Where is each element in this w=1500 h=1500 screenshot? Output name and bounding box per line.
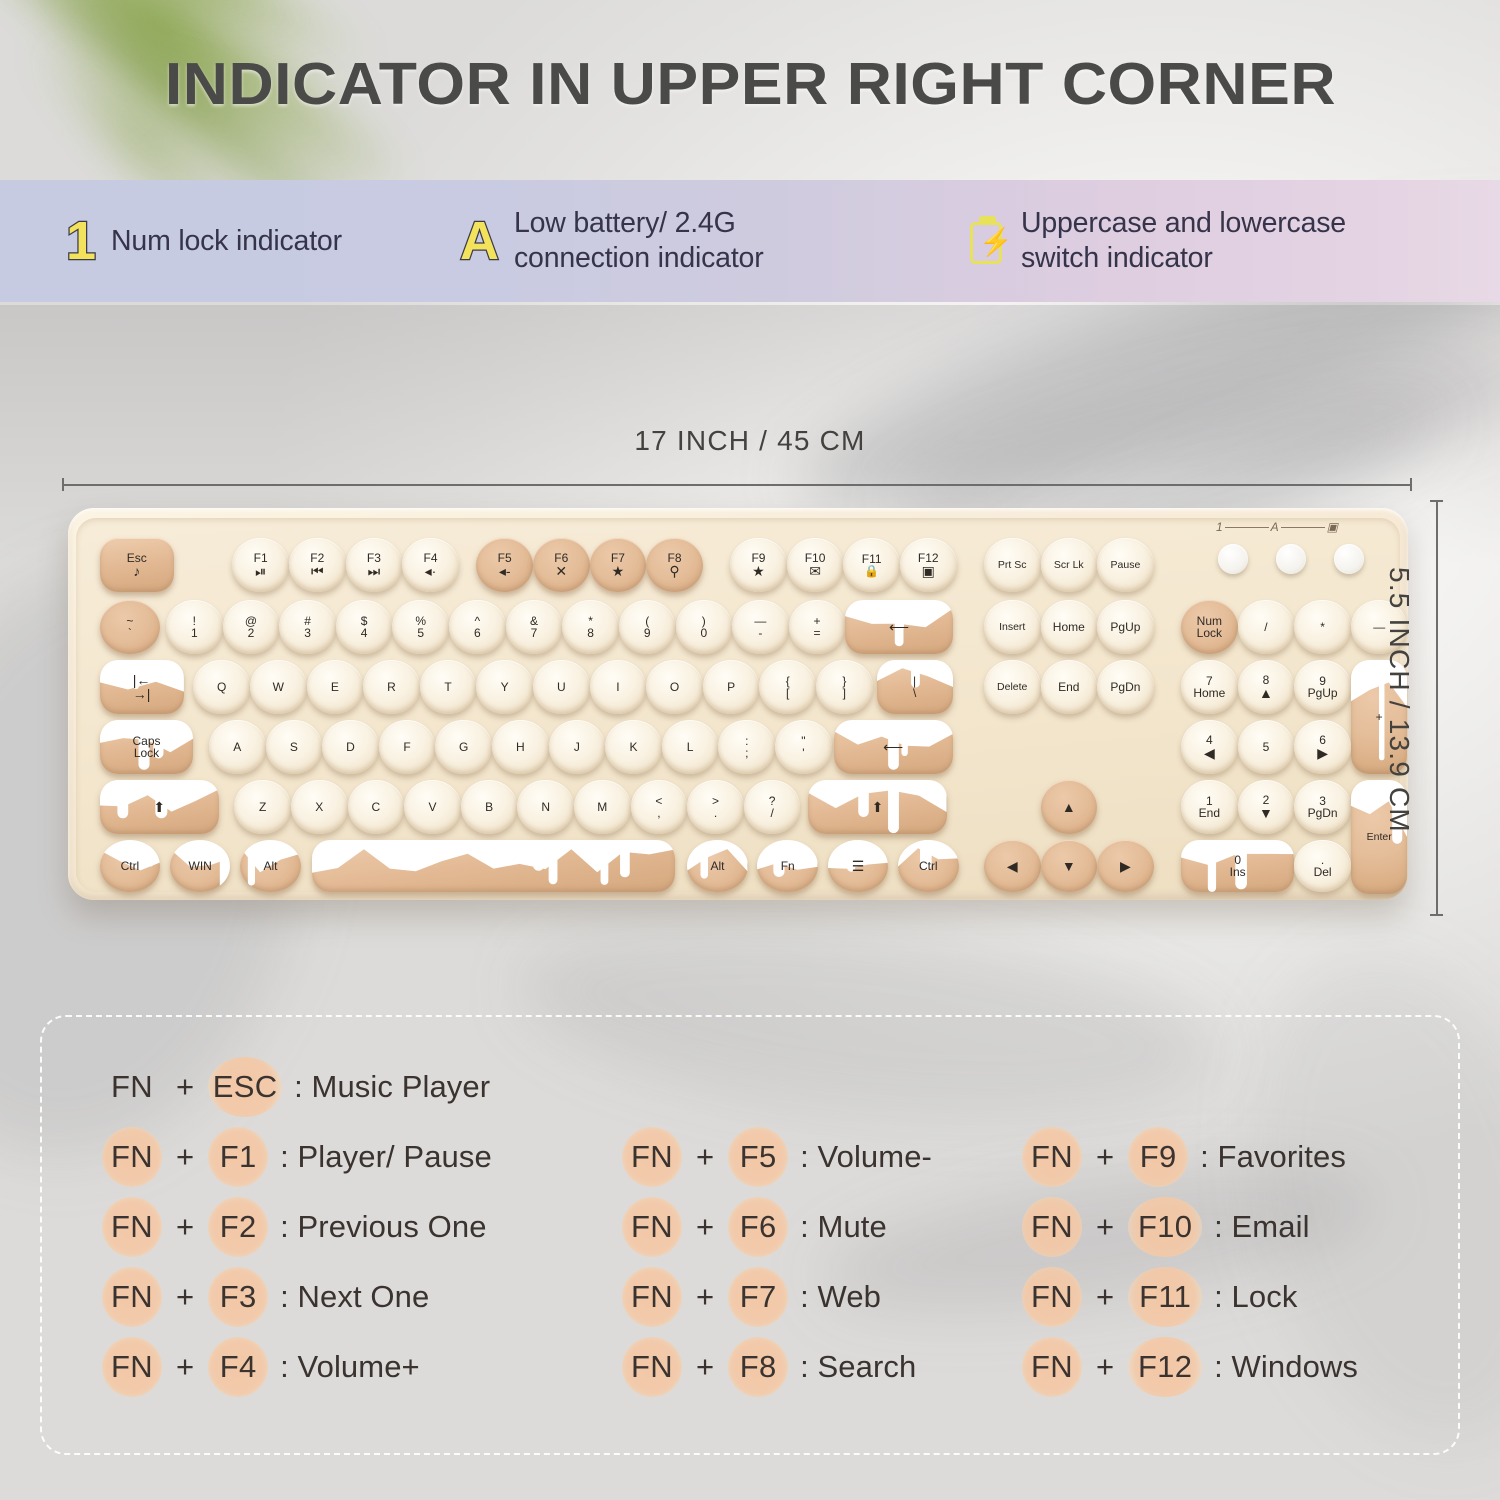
key-[interactable]: :;: [718, 720, 775, 774]
key-h[interactable]: H: [492, 720, 549, 774]
key-label: ◀: [1007, 859, 1018, 873]
key-label-primary: O: [670, 681, 679, 693]
key-label: Insert: [999, 622, 1025, 633]
key-y[interactable]: Y: [476, 660, 533, 714]
key-label-primary: Alt: [263, 860, 277, 872]
key-[interactable]: /: [1238, 600, 1295, 654]
key-label: Fn: [781, 860, 795, 872]
key-[interactable]: &7: [506, 600, 563, 654]
key-f1[interactable]: F1⏯: [232, 538, 289, 592]
key-label-primary: X: [315, 801, 323, 813]
key-[interactable]: ⟵: [834, 720, 953, 774]
fn-shortcut-description: : Volume-: [800, 1139, 932, 1175]
key-label: +: [1376, 711, 1383, 723]
key-0[interactable]: 0Ins: [1181, 840, 1294, 892]
key-label-primary: !: [191, 615, 198, 627]
key-x[interactable]: X: [291, 780, 348, 834]
key-n[interactable]: N: [517, 780, 574, 834]
dimension-height-line: [1430, 500, 1442, 916]
fn-shortcut-description: : Volume+: [280, 1349, 420, 1385]
key-[interactable]: $4: [336, 600, 393, 654]
fn-target-key-chip: F8: [726, 1337, 790, 1397]
fn-key-chip: FN: [100, 1267, 164, 1327]
fn-key-chip: FN: [100, 1197, 164, 1257]
key-[interactable]: <,: [631, 780, 688, 834]
key-t[interactable]: T: [420, 660, 477, 714]
key-label-primary: *: [1320, 621, 1325, 633]
melting-paint-decor: [877, 660, 953, 714]
key-label-primary: F3: [367, 552, 381, 564]
key-label-primary: 7: [1193, 675, 1225, 687]
key-label-primary: A: [233, 741, 241, 753]
dimension-height-label: 5.5 INCH / 13.9 CM: [1383, 567, 1415, 833]
key-scr-lk[interactable]: Scr Lk: [1041, 538, 1098, 592]
key-label-primary: Esc: [127, 552, 147, 564]
key-f10[interactable]: F10✉: [787, 538, 844, 592]
key-home[interactable]: Home: [1041, 600, 1098, 654]
key-label-primary: F4: [424, 552, 438, 564]
key-label-primary: C: [372, 801, 381, 813]
key-o[interactable]: O: [646, 660, 703, 714]
key-label-secondary: ⏭: [367, 564, 381, 578]
key-label-primary: ⬆: [153, 800, 165, 814]
key-esc[interactable]: Esc♪: [100, 538, 174, 592]
key-label: ?/: [769, 795, 776, 819]
fn-shortcut-description: : Web: [800, 1279, 881, 1315]
key-label-secondary: Lock: [1197, 627, 1222, 639]
key-1[interactable]: 1End: [1181, 780, 1238, 834]
key-label-primary: N: [541, 801, 550, 813]
key-label: Q: [217, 681, 226, 693]
key-[interactable]: {[: [759, 660, 816, 714]
key-label: F8⚲: [668, 552, 682, 579]
key-label: ⟵: [883, 740, 903, 754]
key-label-primary: 5: [1263, 741, 1270, 753]
key-label-primary: Enter: [1367, 832, 1392, 843]
caps-a-glyph: A: [460, 214, 499, 268]
fn-shortcut-description: : Email: [1214, 1209, 1309, 1245]
key-label: F6✕: [554, 552, 568, 579]
key-[interactable]: ⬆: [808, 780, 947, 834]
key-label: ☰: [852, 859, 865, 873]
key-label-secondary: 5: [415, 627, 426, 639]
key-[interactable]: ◀: [984, 840, 1041, 892]
key-label: O: [670, 681, 679, 693]
key-label-primary: %: [415, 615, 426, 627]
key-num[interactable]: NumLock: [1181, 600, 1238, 654]
dimension-line-endcap: [1430, 914, 1443, 916]
key-label-primary: ◀: [1007, 859, 1018, 873]
key-[interactable]: (9: [619, 600, 676, 654]
melting-paint-decor: [100, 840, 161, 892]
key-[interactable]: —-: [732, 600, 789, 654]
key-s[interactable]: S: [266, 720, 323, 774]
key-label-primary: Insert: [999, 622, 1025, 633]
key-label: F: [403, 741, 410, 753]
fn-target-key-chip: F12: [1126, 1337, 1204, 1397]
key-caps[interactable]: CapsLock: [100, 720, 194, 774]
fn-shortcut-row: FN+F2: Previous One: [100, 1197, 487, 1257]
key-label-secondary: ★: [751, 564, 765, 578]
key-label-secondary: ⟵: [883, 740, 903, 754]
key-label-secondary: Del: [1314, 866, 1332, 878]
key-[interactable]: >.: [687, 780, 744, 834]
key-label-secondary: 2: [245, 627, 257, 639]
key-label: #3: [304, 615, 311, 639]
key-label: Pause: [1111, 560, 1141, 571]
key-label: CapsLock: [132, 735, 160, 759]
key-label: G: [459, 741, 468, 753]
key-label-primary: B: [485, 801, 493, 813]
key-label-secondary: .: [712, 807, 719, 819]
fn-key-chip: FN: [1020, 1337, 1084, 1397]
fn-target-key-chip: F7: [726, 1267, 790, 1327]
melting-paint-decor: [100, 720, 194, 774]
key-[interactable]: .Del: [1294, 840, 1351, 892]
key-label-primary: :: [745, 735, 748, 747]
key-label-secondary: ▶: [1317, 746, 1328, 760]
key-label: Esc♪: [127, 552, 147, 579]
key-label-primary: S: [290, 741, 298, 753]
key-label-primary: .: [1314, 854, 1332, 866]
key-p[interactable]: P: [703, 660, 760, 714]
key-label-primary: #: [304, 615, 311, 627]
key-q[interactable]: Q: [193, 660, 250, 714]
key-3[interactable]: 3PgDn: [1294, 780, 1351, 834]
key-label-primary: Scr Lk: [1054, 560, 1084, 571]
indicator-label: Low battery/ 2.4Gconnection indicator: [514, 206, 764, 276]
key-f2[interactable]: F2⏮: [289, 538, 346, 592]
key-label: Z: [259, 801, 266, 813]
key-fn[interactable]: Fn: [757, 840, 818, 892]
key-f5[interactable]: F5◂-: [476, 538, 533, 592]
key-label-primary: Caps: [132, 735, 160, 747]
led-legend-line: [1225, 527, 1269, 528]
dimension-width-label: 17 INCH / 45 CM: [0, 425, 1500, 457]
key-5[interactable]: 5: [1238, 720, 1295, 774]
key-label-primary: Pause: [1111, 560, 1141, 571]
key-f9[interactable]: F9★: [730, 538, 787, 592]
dimension-line-endcap: [62, 478, 64, 491]
led-legend-glyph: ▣: [1327, 520, 1338, 534]
indicator-label: Uppercase and lowercaseswitch indicator: [1021, 206, 1346, 276]
key-ctrl[interactable]: Ctrl: [100, 840, 161, 892]
fn-shortcut-row: FN+F5: Volume-: [620, 1127, 932, 1187]
key-label-primary: ▲: [1062, 800, 1076, 814]
key-[interactable]: ▼: [1041, 840, 1098, 892]
key-label-primary: ▼: [1062, 859, 1076, 873]
key-[interactable]: ⟵: [845, 600, 952, 654]
key-label: >.: [712, 795, 719, 819]
key-label-primary: Y: [501, 681, 509, 693]
key-label-secondary: →|: [133, 687, 151, 701]
plus-sign: +: [696, 1139, 714, 1175]
key-label-primary: <: [655, 795, 662, 807]
key-label-primary: F1: [254, 552, 268, 564]
key-label: Scr Lk: [1054, 560, 1084, 571]
key-[interactable]: *: [1294, 600, 1351, 654]
key-f[interactable]: F: [379, 720, 436, 774]
key-label: 8▲: [1259, 674, 1273, 701]
key-v[interactable]: V: [404, 780, 461, 834]
key-pgdn[interactable]: PgDn: [1097, 660, 1154, 714]
key-b[interactable]: B: [461, 780, 518, 834]
fn-target-key-chip: F6: [726, 1197, 790, 1257]
melting-paint-decor: [845, 600, 952, 654]
key-label-secondary: ▼: [1259, 806, 1273, 820]
key-label-primary: +: [814, 615, 821, 627]
indicator-item: ALow battery/ 2.4Gconnection indicator: [460, 206, 970, 276]
key-label: |←→|: [133, 673, 151, 702]
key-label-secondary: ⏮: [310, 564, 324, 578]
key-label-secondary: 8: [587, 627, 594, 639]
key-label-primary: F6: [554, 552, 568, 564]
key-z[interactable]: Z: [234, 780, 291, 834]
key-[interactable]: }]: [816, 660, 873, 714]
key-[interactable]: ▶: [1097, 840, 1154, 892]
key-label: {[: [786, 675, 790, 699]
key-label: Home: [1053, 621, 1085, 633]
fn-shortcut-row: FN+F4: Volume+: [100, 1337, 420, 1397]
key-[interactable]: ^6: [449, 600, 506, 654]
fn-shortcut-description: : Lock: [1214, 1279, 1297, 1315]
indicator-label: Num lock indicator: [111, 224, 342, 259]
key-label-secondary: 🔒: [862, 565, 882, 577]
battery-bolt-icon: ⚡: [970, 216, 1006, 266]
fn-shortcut-description: : Mute: [800, 1209, 887, 1245]
key-label-primary: PgDn: [1110, 681, 1140, 693]
num-lock-glyph: 1: [66, 214, 96, 268]
key-label-primary: 6: [1317, 734, 1328, 746]
key-label: +=: [814, 615, 821, 639]
key-label: &7: [530, 615, 538, 639]
key-label-secondary: ✉: [805, 564, 826, 578]
key-alt[interactable]: Alt: [687, 840, 748, 892]
key-label-secondary: 6: [474, 627, 481, 639]
key-6[interactable]: 6▶: [1294, 720, 1351, 774]
plus-sign: +: [1096, 1349, 1114, 1385]
key-pgup[interactable]: PgUp: [1097, 600, 1154, 654]
key-[interactable]: +=: [789, 600, 846, 654]
key-label: J: [574, 741, 580, 753]
melting-paint-decor: [312, 840, 675, 892]
key-label: 1End: [1199, 795, 1220, 819]
key-f8[interactable]: F8⚲: [646, 538, 703, 592]
key-c[interactable]: C: [348, 780, 405, 834]
dimension-line-bar: [62, 484, 1412, 486]
key-label-secondary: Lock: [132, 747, 160, 759]
key-[interactable]: #3: [279, 600, 336, 654]
key-label: Ctrl: [121, 860, 140, 872]
key-label-primary: 0: [1230, 854, 1246, 866]
key-alt[interactable]: Alt: [240, 840, 301, 892]
key-[interactable]: *8: [562, 600, 619, 654]
key-label-secondary: [: [786, 687, 790, 699]
key-label: F7★: [611, 552, 625, 579]
key-[interactable]: %5: [392, 600, 449, 654]
key-label: F4◂·: [424, 552, 438, 579]
key-[interactable]: ⬆: [100, 780, 219, 834]
key-label: *8: [587, 615, 594, 639]
key-label-primary: —: [754, 615, 766, 627]
fn-key-chip: FN: [620, 1197, 684, 1257]
key-label-primary: Num: [1197, 615, 1222, 627]
key-[interactable]: |\: [877, 660, 953, 714]
fn-shortcut-row: FN+F1: Player/ Pause: [100, 1127, 492, 1187]
key-d[interactable]: D: [322, 720, 379, 774]
key-e[interactable]: E: [307, 660, 364, 714]
key-7[interactable]: 7Home: [1181, 660, 1238, 714]
key-label-primary: M: [597, 801, 607, 813]
key-4[interactable]: 4◀: [1181, 720, 1238, 774]
key-label: U: [557, 681, 566, 693]
key-label: M: [597, 801, 607, 813]
key-insert[interactable]: Insert: [984, 600, 1041, 654]
key-label-secondary: 9: [644, 627, 651, 639]
key-label-primary: 1: [1199, 795, 1220, 807]
key-label-primary: Delete: [997, 682, 1027, 693]
key-label: %5: [415, 615, 426, 639]
key-8[interactable]: 8▲: [1238, 660, 1295, 714]
key-pause[interactable]: Pause: [1097, 538, 1154, 592]
key-label: R: [387, 681, 396, 693]
key-[interactable]: "': [775, 720, 832, 774]
key-label: 7Home: [1193, 675, 1225, 699]
key-space[interactable]: [312, 840, 675, 892]
dimension-width-line: [62, 478, 1412, 490]
key-[interactable]: ▲: [1041, 780, 1098, 834]
key-label: C: [372, 801, 381, 813]
key-label-primary: I: [616, 681, 619, 693]
key-f7[interactable]: F7★: [590, 538, 647, 592]
key-label: —-: [754, 615, 766, 639]
key-prt-sc[interactable]: Prt Sc: [984, 538, 1041, 592]
key-[interactable]: ?/: [744, 780, 801, 834]
key-label: @2: [245, 615, 257, 639]
key-label: A: [233, 741, 241, 753]
key-label: B: [485, 801, 493, 813]
key-f11[interactable]: F11🔒: [843, 538, 900, 592]
key-label: F3⏭: [367, 552, 381, 579]
key-label: X: [315, 801, 323, 813]
key-f3[interactable]: F3⏭: [346, 538, 403, 592]
key-i[interactable]: I: [590, 660, 647, 714]
key-[interactable]: ~`: [100, 600, 161, 654]
key-label: ▲: [1062, 800, 1076, 814]
led-indicator-group: [1218, 544, 1364, 574]
key-m[interactable]: M: [574, 780, 631, 834]
key-label: PgUp: [1110, 621, 1140, 633]
key-label: 6▶: [1317, 734, 1328, 761]
key-2[interactable]: 2▼: [1238, 780, 1295, 834]
key-label: L: [687, 741, 694, 753]
key-label: .Del: [1314, 854, 1332, 878]
key-label-primary: |←: [133, 673, 151, 687]
fn-target-key-chip: F5: [726, 1127, 790, 1187]
key-delete[interactable]: Delete: [984, 660, 1041, 714]
key-label: Delete: [997, 682, 1027, 693]
key-label: ⟵: [889, 620, 909, 634]
key-label: /: [1264, 621, 1267, 633]
fn-shortcut-description: : Next One: [280, 1279, 429, 1315]
key-f4[interactable]: F4◂·: [402, 538, 459, 592]
page-title-text: INDICATOR IN UPPER RIGHT CORNER: [164, 50, 1335, 118]
key-u[interactable]: U: [533, 660, 590, 714]
melting-paint-decor: [828, 840, 889, 892]
key-label: 0Ins: [1230, 854, 1246, 878]
key-g[interactable]: G: [435, 720, 492, 774]
key-f6[interactable]: F6✕: [533, 538, 590, 592]
key-[interactable]: )0: [676, 600, 733, 654]
key-9[interactable]: 9PgUp: [1294, 660, 1351, 714]
key-label: H: [516, 741, 525, 753]
key-l[interactable]: L: [662, 720, 719, 774]
key-label: PgDn: [1110, 681, 1140, 693]
fn-key-chip: FN: [100, 1127, 164, 1187]
plus-sign: +: [176, 1279, 194, 1315]
key-end[interactable]: End: [1041, 660, 1098, 714]
key-[interactable]: @2: [223, 600, 280, 654]
key-label-primary: V: [428, 801, 436, 813]
fn-shortcut-row: FN+F11: Lock: [1020, 1267, 1297, 1327]
fn-key-chip: FN: [1020, 1267, 1084, 1327]
fn-target-key-chip: F10: [1126, 1197, 1204, 1257]
key-[interactable]: ☰: [828, 840, 889, 892]
key-k[interactable]: K: [605, 720, 662, 774]
fn-shortcut-row: FN+F3: Next One: [100, 1267, 429, 1327]
key-ctrl[interactable]: Ctrl: [898, 840, 959, 892]
key-w[interactable]: W: [250, 660, 307, 714]
dimension-line-bar: [1436, 500, 1438, 916]
key-win[interactable]: WIN: [170, 840, 231, 892]
plus-sign: +: [1096, 1279, 1114, 1315]
key-label: D: [346, 741, 355, 753]
fn-shortcut-row: FN+F7: Web: [620, 1267, 881, 1327]
key-label-primary: +: [1376, 711, 1383, 723]
fn-target-key-chip: F11: [1126, 1267, 1204, 1327]
key-j[interactable]: J: [549, 720, 606, 774]
key-label: |\: [913, 675, 916, 699]
key-label: ▶: [1120, 859, 1131, 873]
key-label-secondary: \: [913, 687, 916, 699]
key-label-primary: F5: [498, 552, 512, 564]
key-f12[interactable]: F12▣: [900, 538, 957, 592]
key-label: S: [290, 741, 298, 753]
key-label-primary: Fn: [781, 860, 795, 872]
key-label-secondary: PgDn: [1308, 807, 1338, 819]
key-label: N: [541, 801, 550, 813]
key-label-primary: Prt Sc: [998, 560, 1027, 571]
led-legend: 1A▣: [1216, 520, 1338, 534]
fn-key-chip: FN: [1020, 1197, 1084, 1257]
key-label-primary: }: [842, 675, 846, 687]
key-label: (9: [644, 615, 651, 639]
key-label: E: [331, 681, 339, 693]
fn-target-key-chip: F3: [206, 1267, 270, 1327]
plus-sign: +: [1096, 1209, 1114, 1245]
key-label-secondary: ⟵: [889, 620, 909, 634]
fn-shortcut-row: FN+F9: Favorites: [1020, 1127, 1346, 1187]
key-label-secondary: ★: [611, 564, 625, 578]
key-label-secondary: ]: [842, 687, 846, 699]
key-r[interactable]: R: [363, 660, 420, 714]
key-a[interactable]: A: [209, 720, 266, 774]
key-[interactable]: |←→|: [100, 660, 184, 714]
key-[interactable]: !1: [166, 600, 223, 654]
key-label-primary: Ctrl: [919, 860, 938, 872]
key-label: F11🔒: [862, 553, 882, 577]
key-label-primary: 4: [1204, 734, 1215, 746]
